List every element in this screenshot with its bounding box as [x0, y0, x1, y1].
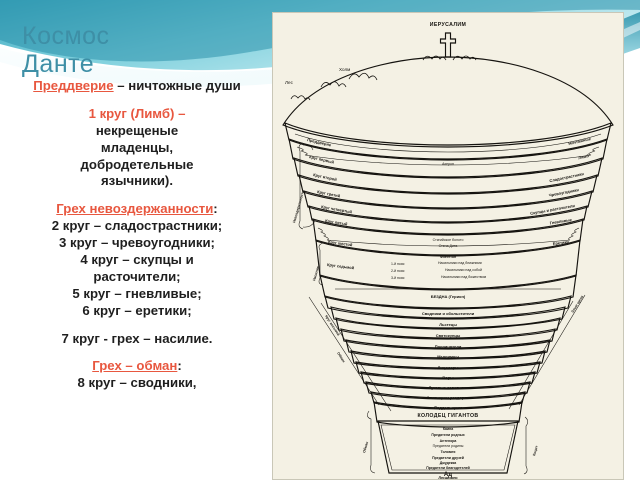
block1-dash: – [114, 78, 129, 93]
hill-label: Холм [339, 67, 350, 72]
belt-label-1: 2-й пояс [391, 269, 405, 273]
page-title: Космос Данте [22, 22, 252, 78]
slide-canvas: Космос Данте Преддверие – ничтожные души… [0, 0, 640, 480]
page-title-line-1: Космос [22, 22, 252, 50]
ninth-row-0: Каина [443, 427, 453, 431]
block5-heading: Грех – обман [92, 358, 177, 373]
cross-icon [441, 33, 456, 57]
circle-band-6: Круг шестой Стигийское болото Стена Дита… [313, 219, 583, 256]
ninth-circle-box: Каина Предатели родных Антенора Предател… [378, 421, 518, 473]
left-brace-label-1: Насилие [312, 266, 320, 281]
hell-label: Ад [273, 472, 623, 478]
block4-line: 7 круг - грех – насилие. [6, 331, 268, 348]
spacer [6, 320, 268, 331]
eighth-row-2: Святокупцы [436, 333, 461, 338]
forest-label: Лес [285, 80, 294, 85]
eighth-row-0: Сводники и обольстители [422, 311, 475, 316]
block2-line-2: некрещеные [6, 123, 268, 140]
ninth-row-6: Джудекка [440, 461, 457, 465]
spacer [6, 95, 268, 106]
eighth-row-1: Льстецы [439, 322, 457, 327]
belt-sinner-2: Насильники над божеством [441, 275, 487, 279]
belt-label-0: 1-й пояс [391, 262, 405, 266]
block2-line-1: 1 круг (Лимб) – [6, 106, 268, 123]
left-diagonal-label-1: Обман [336, 351, 346, 363]
block1-line: Преддверие – ничтожные души [6, 78, 268, 95]
block1-body: ничтожные души [128, 78, 240, 93]
block2-line-4: добродетельные [6, 157, 268, 174]
left-brace-label-0: Невоздержанность [292, 190, 305, 223]
ninth-row-3: Предатели родины [433, 444, 464, 448]
block3-item-5: 6 круг – еретики; [6, 303, 268, 320]
jerusalem-label: ИЕРУСАЛИМ [430, 22, 467, 28]
block5-heading-line: Грех – обман: [6, 358, 268, 375]
belt-label-2: 3-й пояс [391, 276, 405, 280]
abyss-label: БЕЗДНА (Герион) [431, 294, 466, 299]
circle-left-label-7: Круг седьмой [327, 262, 355, 270]
inferno-diagram-panel: ИЕРУСАЛИМ Лес Холм Преддверие [272, 12, 624, 480]
giants-well-label: КОЛОДЕЦ ГИГАНТОВ [417, 413, 478, 419]
circle-left-label-2: Круг второй [313, 172, 338, 182]
block5-item-0: 8 круг – сводники, [6, 375, 268, 392]
spacer [6, 190, 268, 201]
ninth-row-1: Предатели родных [431, 433, 464, 437]
abyss-band: БЕЗДНА (Герион) [320, 275, 576, 309]
ninth-row-5: Предатели друзей [432, 456, 464, 460]
ninth-row-7: Предатели благодетелей [426, 466, 470, 470]
block3-item-3: расточители; [6, 269, 268, 286]
spacer [6, 347, 268, 358]
hills-and-trees [291, 56, 476, 100]
circle-band-vestibule: Преддверие Ничтожные [285, 123, 611, 160]
block3-item-1: 3 круг – чревоугодники; [6, 235, 268, 252]
left-text-column: Преддверие – ничтожные души 1 круг (Лимб… [6, 78, 268, 392]
belt-sinner-0: Насильники над ближними [438, 261, 482, 265]
block3-heading-line: Грех невоздержанности: [6, 201, 268, 218]
block1-heading: Преддверие [33, 78, 113, 93]
circle-right-label-1: Лимб [578, 153, 590, 160]
river-label-acheron: Ахерон [442, 162, 454, 166]
ninth-row-2: Антенора [440, 439, 457, 443]
inferno-funnel-diagram: ИЕРУСАЛИМ Лес Холм Преддверие [273, 13, 623, 479]
river-label-phlegethon: Флегетон [440, 255, 456, 259]
belt-sinner-1: Насильники над собой [445, 268, 482, 272]
block5-colon: : [177, 358, 181, 373]
river-label-styx: Стигийское болото [433, 238, 464, 242]
circle-right-label-3: Чревоугодники [548, 187, 579, 198]
block3-heading: Грех невоздержанности [56, 201, 213, 216]
left-brace-label-2: Обман [362, 441, 369, 453]
block2-line-3: младенцы, [6, 140, 268, 157]
ninth-row-4: Толомея [441, 450, 456, 454]
block3-item-2: 4 круг – скупцы и [6, 252, 268, 269]
block3-item-4: 5 круг – гневливые; [6, 286, 268, 303]
block2-line-5: язычники). [6, 173, 268, 190]
river-label-dis-wall: Стена Дита [439, 244, 458, 248]
eighth-circle-rows: Сводники и обольстители Льстецы Святокуп… [325, 296, 571, 410]
block3-colon: : [213, 201, 217, 216]
block3-item-0: 2 круг – сладострастники; [6, 218, 268, 235]
right-diagonal-label-1: Коцит [532, 445, 539, 456]
page-title-line-2: Данте [22, 50, 252, 78]
